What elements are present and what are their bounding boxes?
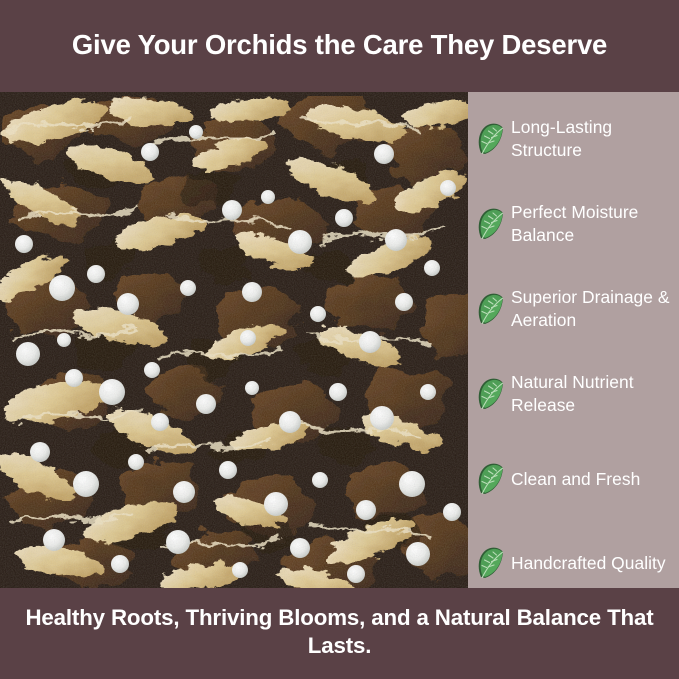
feature-item: Clean and Fresh (475, 449, 679, 509)
feature-item: Perfect Moisture Balance (475, 194, 679, 254)
potting-mix-photo-illustration (0, 92, 468, 588)
product-infographic: Give Your Orchids the Care They Deserve (0, 0, 679, 679)
feature-item: Natural Nutrient Release (475, 364, 679, 424)
feature-list: Long-Lasting Structure (468, 92, 679, 588)
feature-item: Handcrafted Quality (475, 533, 679, 593)
leaf-icon (475, 546, 505, 580)
leaf-icon (475, 207, 505, 241)
leaf-icon (475, 462, 505, 496)
product-photo (0, 92, 468, 588)
tagline-text: Healthy Roots, Thriving Blooms, and a Na… (20, 604, 660, 663)
headline-title: Give Your Orchids the Care They Deserve (30, 28, 650, 65)
feature-item: Long-Lasting Structure (475, 109, 679, 169)
feature-label: Handcrafted Quality (511, 552, 666, 575)
leaf-icon (475, 377, 505, 411)
feature-label: Perfect Moisture Balance (511, 201, 679, 246)
leaf-icon (475, 122, 505, 156)
feature-sidebar: Long-Lasting Structure (468, 92, 679, 588)
feature-label: Long-Lasting Structure (511, 116, 679, 161)
header-banner: Give Your Orchids the Care They Deserve (0, 0, 679, 92)
feature-item: Superior Drainage & Aeration (475, 279, 679, 339)
footer-banner: Healthy Roots, Thriving Blooms, and a Na… (0, 588, 679, 679)
leaf-icon (475, 292, 505, 326)
feature-label: Clean and Fresh (511, 468, 640, 491)
feature-label: Superior Drainage & Aeration (511, 286, 679, 331)
feature-label: Natural Nutrient Release (511, 371, 679, 416)
